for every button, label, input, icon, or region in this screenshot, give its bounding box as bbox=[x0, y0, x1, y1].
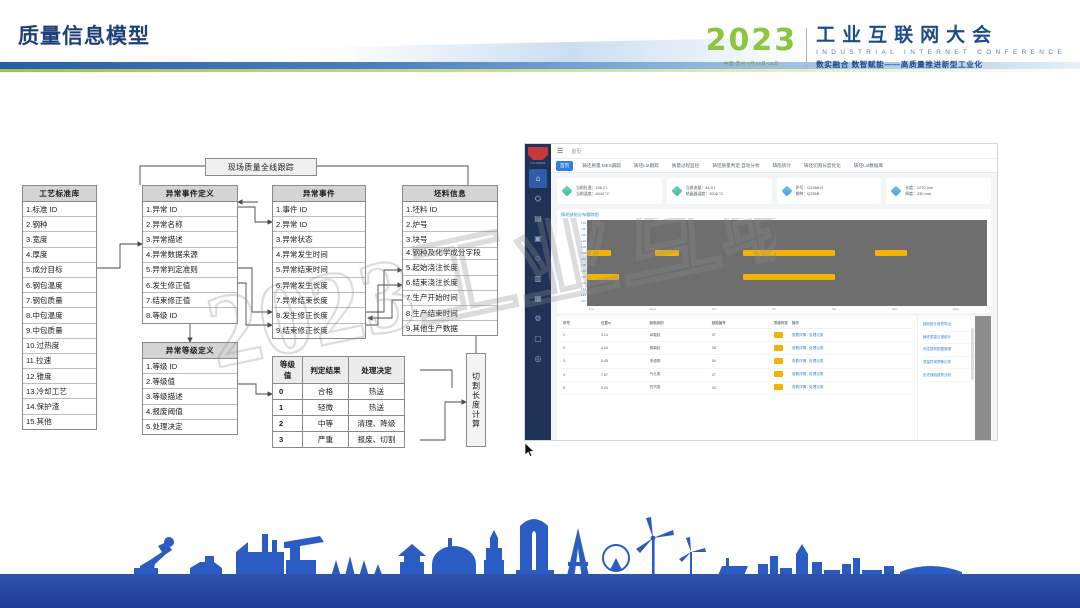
cell-action: 清理、降级 bbox=[349, 416, 405, 432]
entity-field: 8.中包温度 bbox=[23, 308, 96, 323]
cell-type: 气孔类 bbox=[648, 368, 710, 381]
col-header-level: 等级值 bbox=[273, 357, 303, 384]
cell-code: 27 bbox=[710, 368, 772, 381]
logo-divider bbox=[806, 28, 807, 68]
gantt-bar[interactable] bbox=[743, 250, 835, 256]
status-badge bbox=[774, 371, 783, 377]
x-tick: Tue bbox=[589, 307, 594, 311]
gantt-bar[interactable] bbox=[587, 274, 619, 280]
cell-code: 38 bbox=[710, 342, 772, 355]
sidebar-item-chart[interactable]: ▥ bbox=[529, 269, 547, 288]
gantt-y-axis: L01 L02 L03 L04 L05 L06 L07 L08 L09 L10 … bbox=[561, 220, 587, 306]
kpi-card-row: 当前拉速：106.2 t 当前温度：4042 °C 当前流量：44.9 t 结晶… bbox=[551, 173, 997, 207]
cell-level bbox=[772, 329, 790, 342]
entity-field: 5.成分目标 bbox=[23, 263, 96, 278]
entity-field: 4.钢种及化学成分字段 bbox=[403, 248, 497, 261]
cell-no: 1 bbox=[561, 329, 599, 342]
logo-slogan: 数实融合 数智赋能——高质量推进新型工业化 bbox=[816, 59, 1066, 70]
y-tick: L03 bbox=[581, 233, 586, 237]
cube-icon bbox=[671, 185, 682, 196]
cell-code: 54 bbox=[710, 355, 772, 368]
entity-field: 8.发生修正长度 bbox=[273, 308, 365, 323]
entity-field: 3.等级描述 bbox=[143, 389, 237, 404]
cell-ops: 查看详情|处理记录 bbox=[790, 368, 913, 381]
cell-type: 凹坑类 bbox=[648, 381, 710, 394]
op-link-record[interactable]: 处理记录 bbox=[809, 333, 823, 337]
entity-field: 5.异常判定准则 bbox=[143, 263, 237, 278]
tab-home[interactable]: 首页 bbox=[556, 161, 573, 171]
entity-field: 6.发生修正值 bbox=[143, 278, 237, 293]
cell-pos: 7.67 bbox=[599, 368, 648, 381]
col-header-no[interactable]: 序号 bbox=[561, 319, 599, 329]
table-left-pane: 序号 位置m 缺陷类别 缺陷编号 等级判定 操作 1 3.14 纵裂纹 bbox=[557, 316, 917, 440]
cell-ops: 查看详情|处理记录 bbox=[790, 355, 913, 368]
x-tick: Thu bbox=[712, 307, 717, 311]
defect-table: 序号 位置m 缺陷类别 缺陷编号 等级判定 操作 1 3.14 纵裂纹 bbox=[561, 319, 913, 395]
cell-level bbox=[772, 342, 790, 355]
x-tick: Wed bbox=[650, 307, 656, 311]
entity-field: 4.异常数据来源 bbox=[143, 248, 237, 263]
entity-field: 6.结束浇注长度 bbox=[403, 276, 497, 291]
application-screenshot-panel: CCSSMA ⌂ ⛭ ▤ ▣ ☺ ▥ ▦ ⚙ ▢ ◎ ☰ 首页 首页 铸坯质量 … bbox=[524, 143, 998, 441]
entity-field: 3.异常描述 bbox=[143, 232, 237, 247]
entity-field: 1.标准 ID bbox=[23, 202, 96, 217]
x-tick: Fri bbox=[773, 307, 777, 311]
sidebar-item-home[interactable]: ⌂ bbox=[529, 169, 547, 188]
sidebar-item-monitor[interactable]: ▣ bbox=[529, 229, 547, 248]
logo-text-block: 工业互联网大会 INDUSTRIAL INTERNET CONFERENCE 数… bbox=[816, 26, 1066, 70]
y-tick: L01 bbox=[581, 221, 586, 225]
entity-box-anomaly-level-definition: 异常等级定义 1.等级 ID 2.等级值 3.等级描述 4.报废阈值 5.处理决… bbox=[142, 342, 238, 435]
op-link-record[interactable]: 处理记录 bbox=[809, 359, 823, 363]
entity-field: 6.钢包温度 bbox=[23, 278, 96, 293]
y-tick: L08 bbox=[581, 263, 586, 267]
cell-result: 轻微 bbox=[303, 400, 349, 416]
app-sidebar: CCSSMA ⌂ ⛭ ▤ ▣ ☺ ▥ ▦ ⚙ ▢ ◎ bbox=[525, 144, 551, 440]
entity-field: 2.钢种 bbox=[23, 217, 96, 232]
op-link-record[interactable]: 处理记录 bbox=[809, 346, 823, 350]
entity-field: 9.中包质量 bbox=[23, 324, 96, 339]
entity-field: 1.事件 ID bbox=[273, 202, 365, 217]
cell-no: 5 bbox=[561, 381, 599, 394]
entity-field: 12.锥度 bbox=[23, 369, 96, 384]
entity-field: 1.坯料 ID bbox=[403, 202, 497, 217]
entity-field: 2.异常 ID bbox=[273, 217, 365, 232]
entity-field: 9.结束修正长度 bbox=[273, 324, 365, 338]
sidebar-logo-text: CCSSMA bbox=[530, 161, 545, 165]
entity-title: 异常等级定义 bbox=[143, 343, 237, 359]
defect-detail-table: 序号 位置m 缺陷类别 缺陷编号 等级判定 操作 1 3.14 纵裂纹 bbox=[557, 316, 991, 440]
x-tick: Sat bbox=[832, 307, 837, 311]
kpi-line: 当前温度：4042 °C bbox=[576, 191, 610, 197]
table-row: 0 合格 热送 bbox=[273, 384, 405, 400]
footer-blue-band bbox=[0, 574, 1080, 608]
sidebar-item-factory[interactable]: ⛭ bbox=[529, 189, 547, 208]
gantt-bars bbox=[587, 220, 987, 306]
entity-field: 1.等级 ID bbox=[143, 359, 237, 374]
tab-lot-tracking[interactable]: 铸坯Lot跟踪 bbox=[630, 161, 663, 171]
entity-field: 2.等级值 bbox=[143, 374, 237, 389]
mouse-cursor-icon bbox=[524, 442, 536, 458]
table-header-row: 等级值 判定结果 处理决定 bbox=[273, 357, 405, 384]
kpi-line: 厚度：230 mm bbox=[905, 191, 933, 197]
table-row[interactable]: 3 5.45 夹渣物 54 查看详情|处理记录 bbox=[561, 355, 913, 368]
col-header-level[interactable]: 等级判定 bbox=[772, 319, 790, 329]
table-row[interactable]: 2 4.24 角裂纹 38 查看详情|处理记录 bbox=[561, 342, 913, 355]
cut-length-label: 切割长度计算 bbox=[471, 372, 482, 429]
kpi-card-text: 炉号：GZ458-H 钢种：Q235B bbox=[796, 185, 824, 197]
x-tick: Sun bbox=[892, 307, 897, 311]
cell-level bbox=[772, 381, 790, 394]
logo-year-subtitle: 中国·苏州 9月14日-16日 bbox=[706, 61, 798, 67]
table-row: 1 轻微 热送 bbox=[273, 400, 405, 416]
decision-rule-table: 等级值 判定结果 处理决定 0 合格 热送 1 轻微 热送 2 中等 清理、降级 bbox=[272, 356, 405, 448]
op-link-view[interactable]: 查看详情 bbox=[792, 372, 806, 376]
col-header-action: 处理决定 bbox=[349, 357, 405, 384]
cell-result: 合格 bbox=[303, 384, 349, 400]
entity-box-process-standard: 工艺标准库 1.标准 ID 2.钢种 3.宽度 4.厚度 5.成分目标 6.钢包… bbox=[22, 185, 97, 430]
tab-auto-analysis[interactable]: 铸坯质量判定 自动分析 bbox=[708, 161, 763, 171]
op-link-view[interactable]: 查看详情 bbox=[792, 385, 806, 389]
cube-icon bbox=[891, 185, 902, 196]
kpi-card[interactable]: 当前流量：44.9 t 结晶器温度：3006 °C bbox=[667, 178, 772, 204]
y-tick: L02 bbox=[581, 227, 586, 231]
kpi-card[interactable]: 炉号：GZ458-H 钢种：Q235B bbox=[777, 178, 882, 204]
entity-field: 3.异常状态 bbox=[273, 232, 365, 247]
entity-field: 6.异常发生长度 bbox=[273, 278, 365, 293]
sidebar-item-grid[interactable]: ▦ bbox=[529, 289, 547, 308]
cell-ops: 查看详情|处理记录 bbox=[790, 381, 913, 394]
col-header-ops[interactable]: 操作 bbox=[790, 319, 913, 329]
y-tick: L13 bbox=[581, 293, 586, 297]
y-tick: L11 bbox=[582, 281, 586, 285]
entity-field: 7.异常结束长度 bbox=[273, 293, 365, 308]
x-tick: Mon bbox=[953, 307, 959, 311]
defect-gantt-chart: 铸坯缺陷分布跟踪图 L01 L02 L03 L04 L05 L06 L07 L0… bbox=[557, 209, 991, 313]
status-badge bbox=[774, 345, 783, 351]
entity-title: 异常事件定义 bbox=[143, 186, 237, 202]
entity-field: 4.厚度 bbox=[23, 248, 96, 263]
gantt-bar[interactable] bbox=[655, 250, 679, 256]
logo-year: 2023 bbox=[706, 26, 798, 56]
cell-level: 2 bbox=[273, 416, 303, 432]
tab-cut-optimization[interactable]: 铸坯切割长度优化 bbox=[800, 161, 845, 171]
col-header-pos[interactable]: 位置m bbox=[599, 319, 648, 329]
table-right-pane: 缺陷统计报表导出 铸坯质量日报统计 判定规则配置管理 质量异常预警记录 历史缺陷… bbox=[917, 316, 991, 440]
gantt-bar[interactable] bbox=[743, 274, 835, 280]
breadcrumb: 首页 bbox=[571, 148, 581, 155]
sidebar-item-list[interactable]: ▤ bbox=[529, 209, 547, 228]
entity-field: 3.宽度 bbox=[23, 232, 96, 247]
logo-year-block: 2023 中国·苏州 9月14日-16日 bbox=[706, 26, 807, 67]
col-header-code[interactable]: 缺陷编号 bbox=[710, 319, 772, 329]
entity-field: 1.异常 ID bbox=[143, 202, 237, 217]
kpi-card-text: 当前拉速：106.2 t 当前温度：4042 °C bbox=[576, 185, 610, 197]
entity-field: 14.保护渣 bbox=[23, 399, 96, 414]
cube-icon bbox=[781, 185, 792, 196]
company-logo-icon bbox=[528, 147, 548, 160]
entity-field: 2.异常名称 bbox=[143, 217, 237, 232]
entity-field: 5.异常结束时间 bbox=[273, 263, 365, 278]
kpi-card[interactable]: 当前拉速：106.2 t 当前温度：4042 °C bbox=[557, 178, 662, 204]
logo-english-name: INDUSTRIAL INTERNET CONFERENCE bbox=[816, 49, 1066, 56]
panel-edge-shade bbox=[975, 316, 991, 440]
cell-no: 3 bbox=[561, 355, 599, 368]
cell-no: 2 bbox=[561, 342, 599, 355]
cell-type: 纵裂纹 bbox=[648, 329, 710, 342]
cell-action: 报废、切割 bbox=[349, 432, 405, 448]
entity-field: 7.钢包质量 bbox=[23, 293, 96, 308]
entity-field: 7.生产开始时间 bbox=[403, 291, 497, 306]
city-skyline-illustration bbox=[0, 508, 1080, 580]
tab-process-monitor[interactable]: 质量过程监控 bbox=[668, 161, 704, 171]
status-badge bbox=[774, 332, 783, 338]
entity-box-anomaly-event: 异常事件 1.事件 ID 2.异常 ID 3.异常状态 4.异常发生时间 5.异… bbox=[272, 185, 366, 339]
gantt-plot-area: L01 L02 L03 L04 L05 L06 L07 L08 L09 L10 … bbox=[561, 220, 987, 306]
tab-defect-stats[interactable]: 缺陷统计 bbox=[769, 161, 795, 171]
entity-field: 8.等级 ID bbox=[143, 308, 237, 322]
cell-type: 角裂纹 bbox=[648, 342, 710, 355]
table-row: 3 严重 报废、切割 bbox=[273, 432, 405, 448]
cell-level: 3 bbox=[273, 432, 303, 448]
footer-decoration bbox=[0, 508, 1080, 608]
entity-field: 3.块号 bbox=[403, 232, 497, 247]
cell-result: 严重 bbox=[303, 432, 349, 448]
entity-field: 2.炉号 bbox=[403, 217, 497, 232]
y-tick: L07 bbox=[581, 257, 586, 261]
entity-title: 坯料信息 bbox=[403, 186, 497, 202]
sidebar-item-cloud[interactable]: ◎ bbox=[529, 349, 547, 368]
y-tick: L09 bbox=[581, 269, 586, 273]
y-tick: L10 bbox=[581, 275, 586, 279]
status-badge bbox=[774, 384, 783, 390]
cell-result: 中等 bbox=[303, 416, 349, 432]
sidebar-item-user[interactable]: ☺ bbox=[529, 249, 547, 268]
cell-ops: 查看详情|处理记录 bbox=[790, 329, 913, 342]
sidebar-item-gear[interactable]: ⚙ bbox=[529, 309, 547, 328]
table-row[interactable]: 5 9.24 凹坑类 43 查看详情|处理记录 bbox=[561, 381, 913, 394]
col-header-type[interactable]: 缺陷类别 bbox=[648, 319, 710, 329]
kpi-card-text: 当前流量：44.9 t 结晶器温度：3006 °C bbox=[686, 185, 723, 197]
cell-level: 0 bbox=[273, 384, 303, 400]
entity-field: 5.处理决定 bbox=[143, 420, 237, 434]
y-tick: L06 bbox=[581, 251, 586, 255]
entity-field: 13.冷却工艺 bbox=[23, 384, 96, 399]
quality-information-model-diagram: 现场质量全线跟踪 工艺标准库 1.标准 ID 2.钢种 3.宽度 4.厚度 5.… bbox=[0, 140, 525, 470]
kpi-card[interactable]: 长度：1270 mm 厚度：230 mm bbox=[886, 178, 991, 204]
gantt-bar[interactable] bbox=[875, 250, 907, 256]
cell-pos: 9.24 bbox=[599, 381, 648, 394]
hamburger-icon[interactable]: ☰ bbox=[557, 147, 563, 155]
y-tick: L14 bbox=[581, 299, 586, 303]
cell-pos: 5.45 bbox=[599, 355, 648, 368]
tab-lot-database[interactable]: 铸坯Lot数据库 bbox=[850, 161, 887, 171]
table-row[interactable]: 4 7.67 气孔类 27 查看详情|处理记录 bbox=[561, 368, 913, 381]
entity-field: 15.其他 bbox=[23, 415, 96, 429]
op-link-view[interactable]: 查看详情 bbox=[792, 333, 806, 337]
cut-length-calculation-box: 切割长度计算 bbox=[466, 353, 486, 447]
entity-field: 5.起始浇注长度 bbox=[403, 260, 497, 275]
cell-level bbox=[772, 355, 790, 368]
entity-field: 9.其他生产数据 bbox=[403, 321, 497, 335]
app-main-area: ☰ 首页 首页 铸坯质量 MES跟踪 铸坯Lot跟踪 质量过程监控 铸坯质量判定… bbox=[551, 144, 997, 440]
entity-field: 4.报废阈值 bbox=[143, 405, 237, 420]
entity-field: 10.过热度 bbox=[23, 339, 96, 354]
kpi-line: 结晶器温度：3006 °C bbox=[686, 191, 723, 197]
cell-level bbox=[772, 368, 790, 381]
conference-logo: 2023 中国·苏州 9月14日-16日 工业互联网大会 INDUSTRIAL … bbox=[706, 26, 1066, 70]
op-link-view[interactable]: 查看详情 bbox=[792, 359, 806, 363]
cell-action: 热送 bbox=[349, 400, 405, 416]
cube-icon bbox=[561, 185, 572, 196]
cell-level: 1 bbox=[273, 400, 303, 416]
entity-field: 8.生产结束时间 bbox=[403, 306, 497, 321]
y-tick: L12 bbox=[581, 287, 586, 291]
chart-title: 铸坯缺陷分布跟踪图 bbox=[561, 212, 987, 218]
cell-type: 夹渣物 bbox=[648, 355, 710, 368]
tab-mes-tracking[interactable]: 铸坯质量 MES跟踪 bbox=[578, 161, 625, 171]
kpi-line: 钢种：Q235B bbox=[796, 191, 824, 197]
app-topbar: ☰ 首页 bbox=[551, 144, 997, 159]
app-tab-bar: 首页 铸坯质量 MES跟踪 铸坯Lot跟踪 质量过程监控 铸坯质量判定 自动分析… bbox=[551, 159, 997, 173]
table-row: 2 中等 清理、降级 bbox=[273, 416, 405, 432]
cell-pos: 4.24 bbox=[599, 342, 648, 355]
op-link-view[interactable]: 查看详情 bbox=[792, 346, 806, 350]
gantt-x-axis: Tue Wed Thu Fri Sat Sun Mon bbox=[561, 306, 987, 311]
table-row[interactable]: 1 3.14 纵裂纹 37 查看详情|处理记录 bbox=[561, 329, 913, 342]
col-header-result: 判定结果 bbox=[303, 357, 349, 384]
sidebar-item-doc[interactable]: ▢ bbox=[529, 329, 547, 348]
cell-code: 37 bbox=[710, 329, 772, 342]
diagram-banner-tracking: 现场质量全线跟踪 bbox=[205, 158, 317, 176]
kpi-card-text: 长度：1270 mm 厚度：230 mm bbox=[905, 185, 933, 197]
entity-title: 异常事件 bbox=[273, 186, 365, 202]
page-title: 质量信息模型 bbox=[18, 20, 150, 50]
status-badge bbox=[774, 358, 783, 364]
cell-code: 43 bbox=[710, 381, 772, 394]
table-header-row: 序号 位置m 缺陷类别 缺陷编号 等级判定 操作 bbox=[561, 319, 913, 329]
cell-no: 4 bbox=[561, 368, 599, 381]
op-link-record[interactable]: 处理记录 bbox=[809, 385, 823, 389]
gantt-bar[interactable] bbox=[587, 250, 611, 256]
logo-chinese-name: 工业互联网大会 bbox=[816, 26, 1066, 46]
y-tick: L05 bbox=[581, 245, 586, 249]
cell-action: 热送 bbox=[349, 384, 405, 400]
y-tick: L04 bbox=[581, 239, 586, 243]
op-link-record[interactable]: 处理记录 bbox=[809, 372, 823, 376]
entity-field: 11.拉速 bbox=[23, 354, 96, 369]
cell-ops: 查看详情|处理记录 bbox=[790, 342, 913, 355]
entity-box-anomaly-event-definition: 异常事件定义 1.异常 ID 2.异常名称 3.异常描述 4.异常数据来源 5.… bbox=[142, 185, 238, 324]
cell-pos: 3.14 bbox=[599, 329, 648, 342]
entity-box-billet-information: 坯料信息 1.坯料 ID 2.炉号 3.块号 4.钢种及化学成分字段 5.起始浇… bbox=[402, 185, 498, 336]
entity-field: 7.结束修正值 bbox=[143, 293, 237, 308]
scrollbar-thumb[interactable] bbox=[971, 328, 974, 380]
entity-field: 4.异常发生时间 bbox=[273, 248, 365, 263]
entity-title: 工艺标准库 bbox=[23, 186, 96, 202]
